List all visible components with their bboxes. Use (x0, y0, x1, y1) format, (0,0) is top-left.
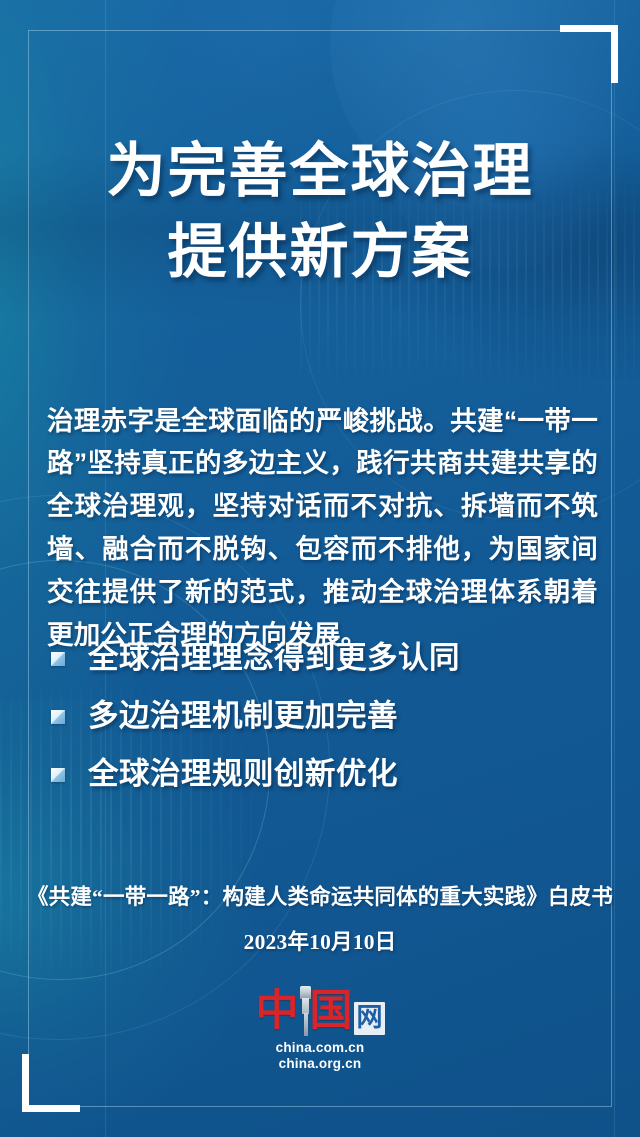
logo-urls: china.com.cn china.org.cn (245, 1040, 395, 1073)
bullet-list: 全球治理理念得到更多认同 多边治理机制更加完善 全球治理规则创新优化 (51, 631, 598, 805)
logo-url-primary: china.com.cn (245, 1040, 395, 1056)
square-bullet-icon (51, 652, 65, 666)
square-bullet-icon (51, 768, 65, 782)
list-item: 多边治理机制更加完善 (51, 689, 598, 745)
source-citation: 《共建“一带一路”：构建人类命运共同体的重大实践》白皮书 (0, 880, 640, 911)
tower-icon (298, 986, 313, 1036)
list-item: 全球治理规则创新优化 (51, 747, 598, 803)
logo-url-secondary: china.org.cn (245, 1056, 395, 1072)
china-net-logo: 中 国 网 china.com.cn china.org.cn (245, 985, 395, 1071)
body-paragraph: 治理赤字是全球面临的严峻挑战。共建“一带一路”坚持真正的多边主义，践行共商共建共… (47, 400, 598, 658)
logo-char-guo: 国 (309, 990, 351, 1033)
bullet-label: 全球治理理念得到更多认同 (88, 642, 460, 676)
poster-content: 为完善全球治理 提供新方案 治理赤字是全球面临的严峻挑战。共建“一带一路”坚持真… (0, 0, 640, 1137)
square-bullet-icon (51, 710, 65, 724)
logo-char-zhong: 中 (255, 990, 297, 1033)
bullet-label: 多边治理机制更加完善 (88, 700, 398, 734)
headline-line-2: 提供新方案 (0, 212, 640, 293)
publication-date: 2023年10月10日 (0, 925, 640, 956)
poster-canvas: 为完善全球治理 提供新方案 治理赤字是全球面临的严峻挑战。共建“一带一路”坚持真… (0, 0, 640, 1137)
headline-line-1: 为完善全球治理 (0, 131, 640, 212)
list-item: 全球治理理念得到更多认同 (51, 631, 598, 687)
headline: 为完善全球治理 提供新方案 (0, 131, 640, 293)
bullet-label: 全球治理规则创新优化 (88, 758, 398, 792)
logo-char-wang: 网 (354, 1002, 384, 1035)
logo-wordmark: 中 国 网 (245, 985, 395, 1037)
